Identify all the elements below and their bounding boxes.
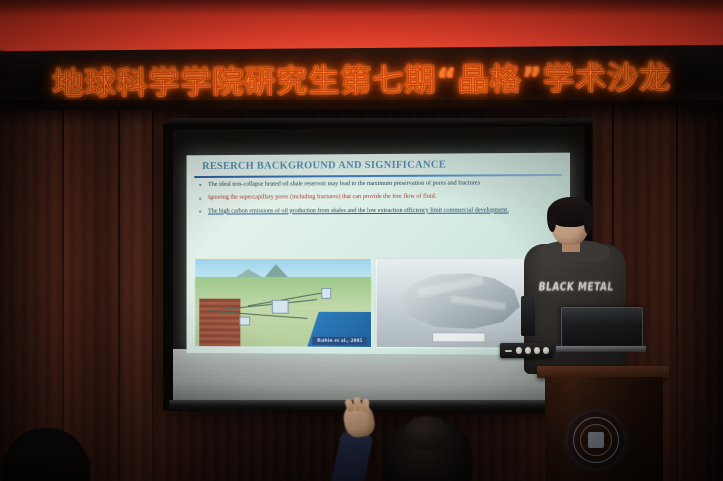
lecture-hall-photo: 地球科学学院研究生第七期“晶格”学术沙龙 RESERCH BACKGROUND … (0, 0, 723, 481)
wall-vignette (0, 100, 723, 481)
backdrop-top-shade (0, 0, 723, 16)
